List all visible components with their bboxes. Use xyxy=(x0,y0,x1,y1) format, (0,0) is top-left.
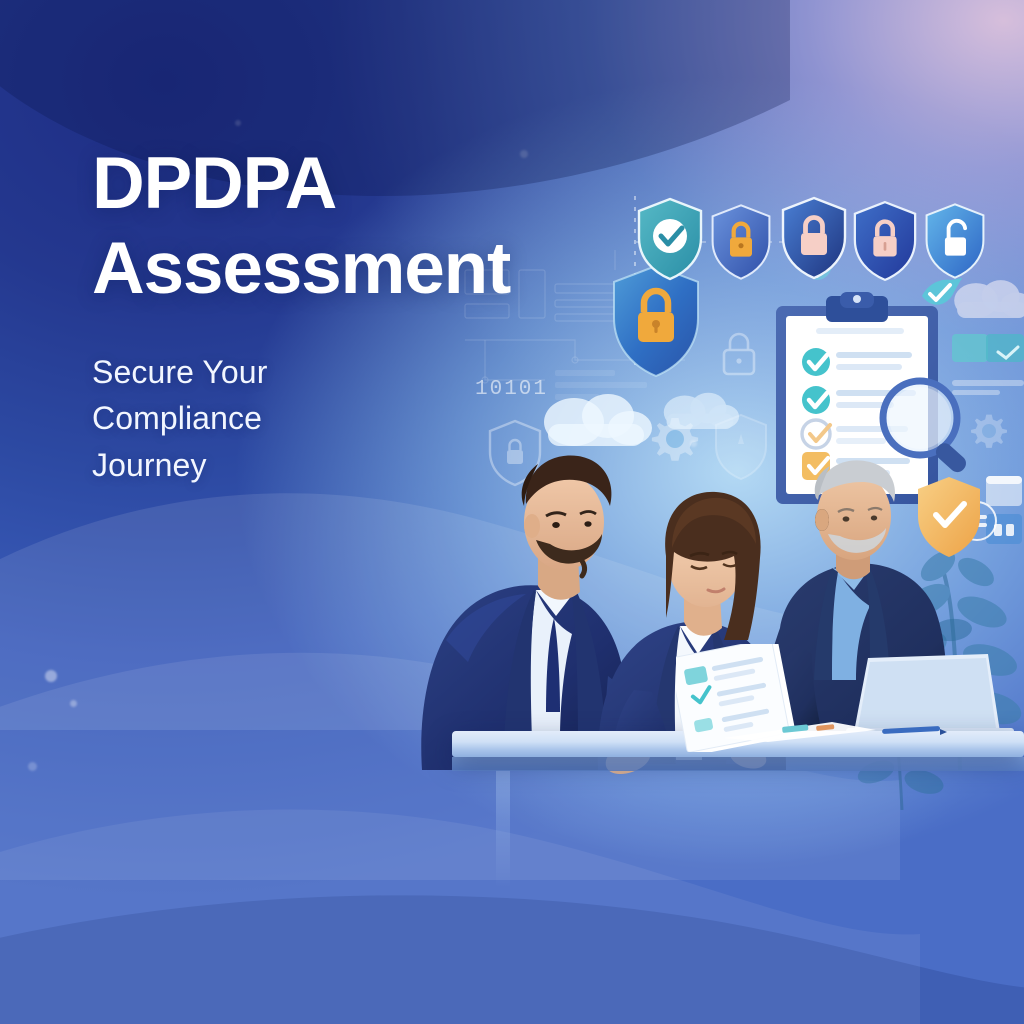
desk-front-edge xyxy=(452,757,1024,771)
page-subtitle-line-1: Secure Your xyxy=(92,349,672,395)
page-subtitle-line-3: Journey xyxy=(92,442,672,488)
desk-glow xyxy=(452,760,1024,920)
hero-text-block: DPDPA Assessment Secure Your Compliance … xyxy=(92,142,672,488)
banner-canvas: 10101 xyxy=(0,0,1024,1024)
ui-card xyxy=(952,330,1024,373)
page-title: DPDPA Assessment xyxy=(92,142,672,311)
bokeh-dot xyxy=(235,120,241,126)
pen xyxy=(880,724,948,743)
shield-badge-row xyxy=(634,188,984,268)
page-title-line-2: Assessment xyxy=(92,227,672,312)
unlock-shield xyxy=(922,200,988,287)
desk-leg xyxy=(496,768,510,888)
ghost-lock-icon xyxy=(716,328,762,385)
page-title-line-1: DPDPA xyxy=(92,142,672,227)
desk-papers xyxy=(720,716,880,749)
page-subtitle: Secure Your Compliance Journey xyxy=(92,349,672,487)
lock-shield-pink-b xyxy=(850,198,920,289)
lock-shield-pink-a xyxy=(778,194,850,287)
lock-shield-orange xyxy=(708,202,774,287)
bokeh-dot xyxy=(45,670,57,682)
bokeh-dot xyxy=(28,762,37,771)
bokeh-dot xyxy=(70,700,77,707)
page-subtitle-line-2: Compliance xyxy=(92,395,672,441)
